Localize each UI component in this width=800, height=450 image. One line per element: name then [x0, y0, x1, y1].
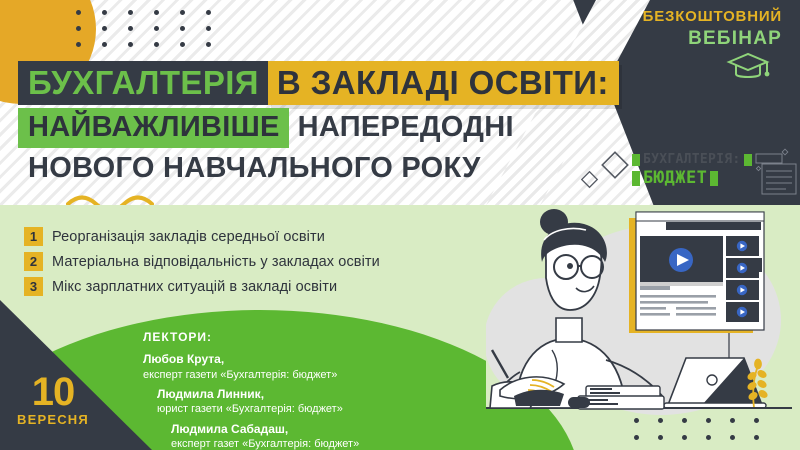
bullet-number-badge: 3 — [24, 277, 43, 296]
logo-line-2: БЮДЖЕТ — [632, 168, 752, 188]
logo-text-2: БЮДЖЕТ — [643, 168, 707, 188]
headline-part-1: БУХГАЛТЕРІЯ — [18, 61, 268, 105]
document-list-icon — [752, 148, 800, 205]
lecturer-role: експерт газети «Бухгалтерія: бюджет» — [143, 368, 359, 382]
headline-part-5: НОВОГО НАВЧАЛЬНОГО РОКУ — [18, 152, 490, 186]
bullet-number-badge: 1 — [24, 227, 43, 246]
lecturer-item: Людмила Линник, юрист газети «Бухгалтері… — [157, 387, 359, 417]
headline-row-2: НАЙВАЖЛИВІШЕ НАПЕРЕДОДНІ — [18, 108, 778, 148]
lecturer-item: Любов Крута, експерт газети «Бухгалтерія… — [143, 352, 359, 382]
list-item: 3 Мікс зарплатних ситуацій в закладі осв… — [24, 277, 380, 296]
diamond-decorations — [578, 150, 638, 199]
logo-square-icon — [632, 154, 640, 166]
list-item: 1 Реорганізація закладів середньої освіт… — [24, 227, 380, 246]
lecturers-block: ЛЕКТОРИ: Любов Крута, експерт газети «Бу… — [143, 330, 359, 450]
lecturer-role: експерт газет «Бухгалтерія: бюджет» — [171, 437, 359, 450]
bullet-text: Матеріальна відповідальність у закладах … — [52, 254, 380, 270]
date-month: ВЕРЕСНЯ — [17, 412, 89, 427]
lecturer-name: Людмила Линник, — [157, 387, 359, 403]
free-label-text: БЕЗКОШТОВНИЙ — [643, 8, 782, 27]
lecturers-heading: ЛЕКТОРИ: — [143, 330, 359, 344]
lecturer-item: Людмила Сабадаш, експерт газет «Бухгалте… — [171, 422, 359, 450]
date-day: 10 — [17, 374, 89, 411]
woman-at-laptop-webinar-illustration — [486, 200, 800, 450]
lecturer-name: Людмила Сабадаш, — [171, 422, 359, 438]
graduation-cap-icon — [726, 52, 770, 87]
logo-square-icon — [632, 171, 640, 186]
event-date-badge: 10 ВЕРЕСНЯ — [17, 374, 89, 427]
logo-line-1: БУХГАЛТЕРІЯ: — [632, 152, 752, 167]
logo-square-icon — [710, 171, 718, 186]
webinar-label-text: ВЕБІНАР — [643, 27, 782, 51]
brand-logo: БУХГАЛТЕРІЯ: БЮДЖЕТ — [632, 152, 752, 188]
free-webinar-label: БЕЗКОШТОВНИЙ ВЕБІНАР — [643, 8, 782, 51]
logo-text-1: БУХГАЛТЕРІЯ: — [643, 152, 741, 167]
headline-part-2: В ЗАКЛАДІ ОСВІТИ: — [268, 61, 619, 105]
bullet-number-badge: 2 — [24, 252, 43, 271]
headline-part-3: НАЙВАЖЛИВІШЕ — [18, 108, 289, 148]
bullet-text: Реорганізація закладів середньої освіти — [52, 229, 325, 245]
dot-grid-top-left — [76, 10, 232, 58]
bullet-text: Мікс зарплатних ситуацій в закладі освіт… — [52, 279, 337, 295]
headline-row-1: БУХГАЛТЕРІЯ В ЗАКЛАДІ ОСВІТИ: — [18, 61, 778, 105]
lecturer-role: юрист газети «Бухгалтерія: бюджет» — [157, 402, 359, 416]
topics-list: 1 Реорганізація закладів середньої освіт… — [24, 227, 380, 302]
list-item: 2 Матеріальна відповідальність у заклада… — [24, 252, 380, 271]
webinar-promo-banner: БЕЗКОШТОВНИЙ ВЕБІНАР БУХГАЛТЕРІЯ В ЗАКЛА… — [0, 0, 800, 450]
lecturer-name: Любов Крута, — [143, 352, 359, 368]
logo-square-icon — [744, 154, 752, 166]
headline-part-4: НАПЕРЕДОДНІ — [289, 108, 523, 148]
